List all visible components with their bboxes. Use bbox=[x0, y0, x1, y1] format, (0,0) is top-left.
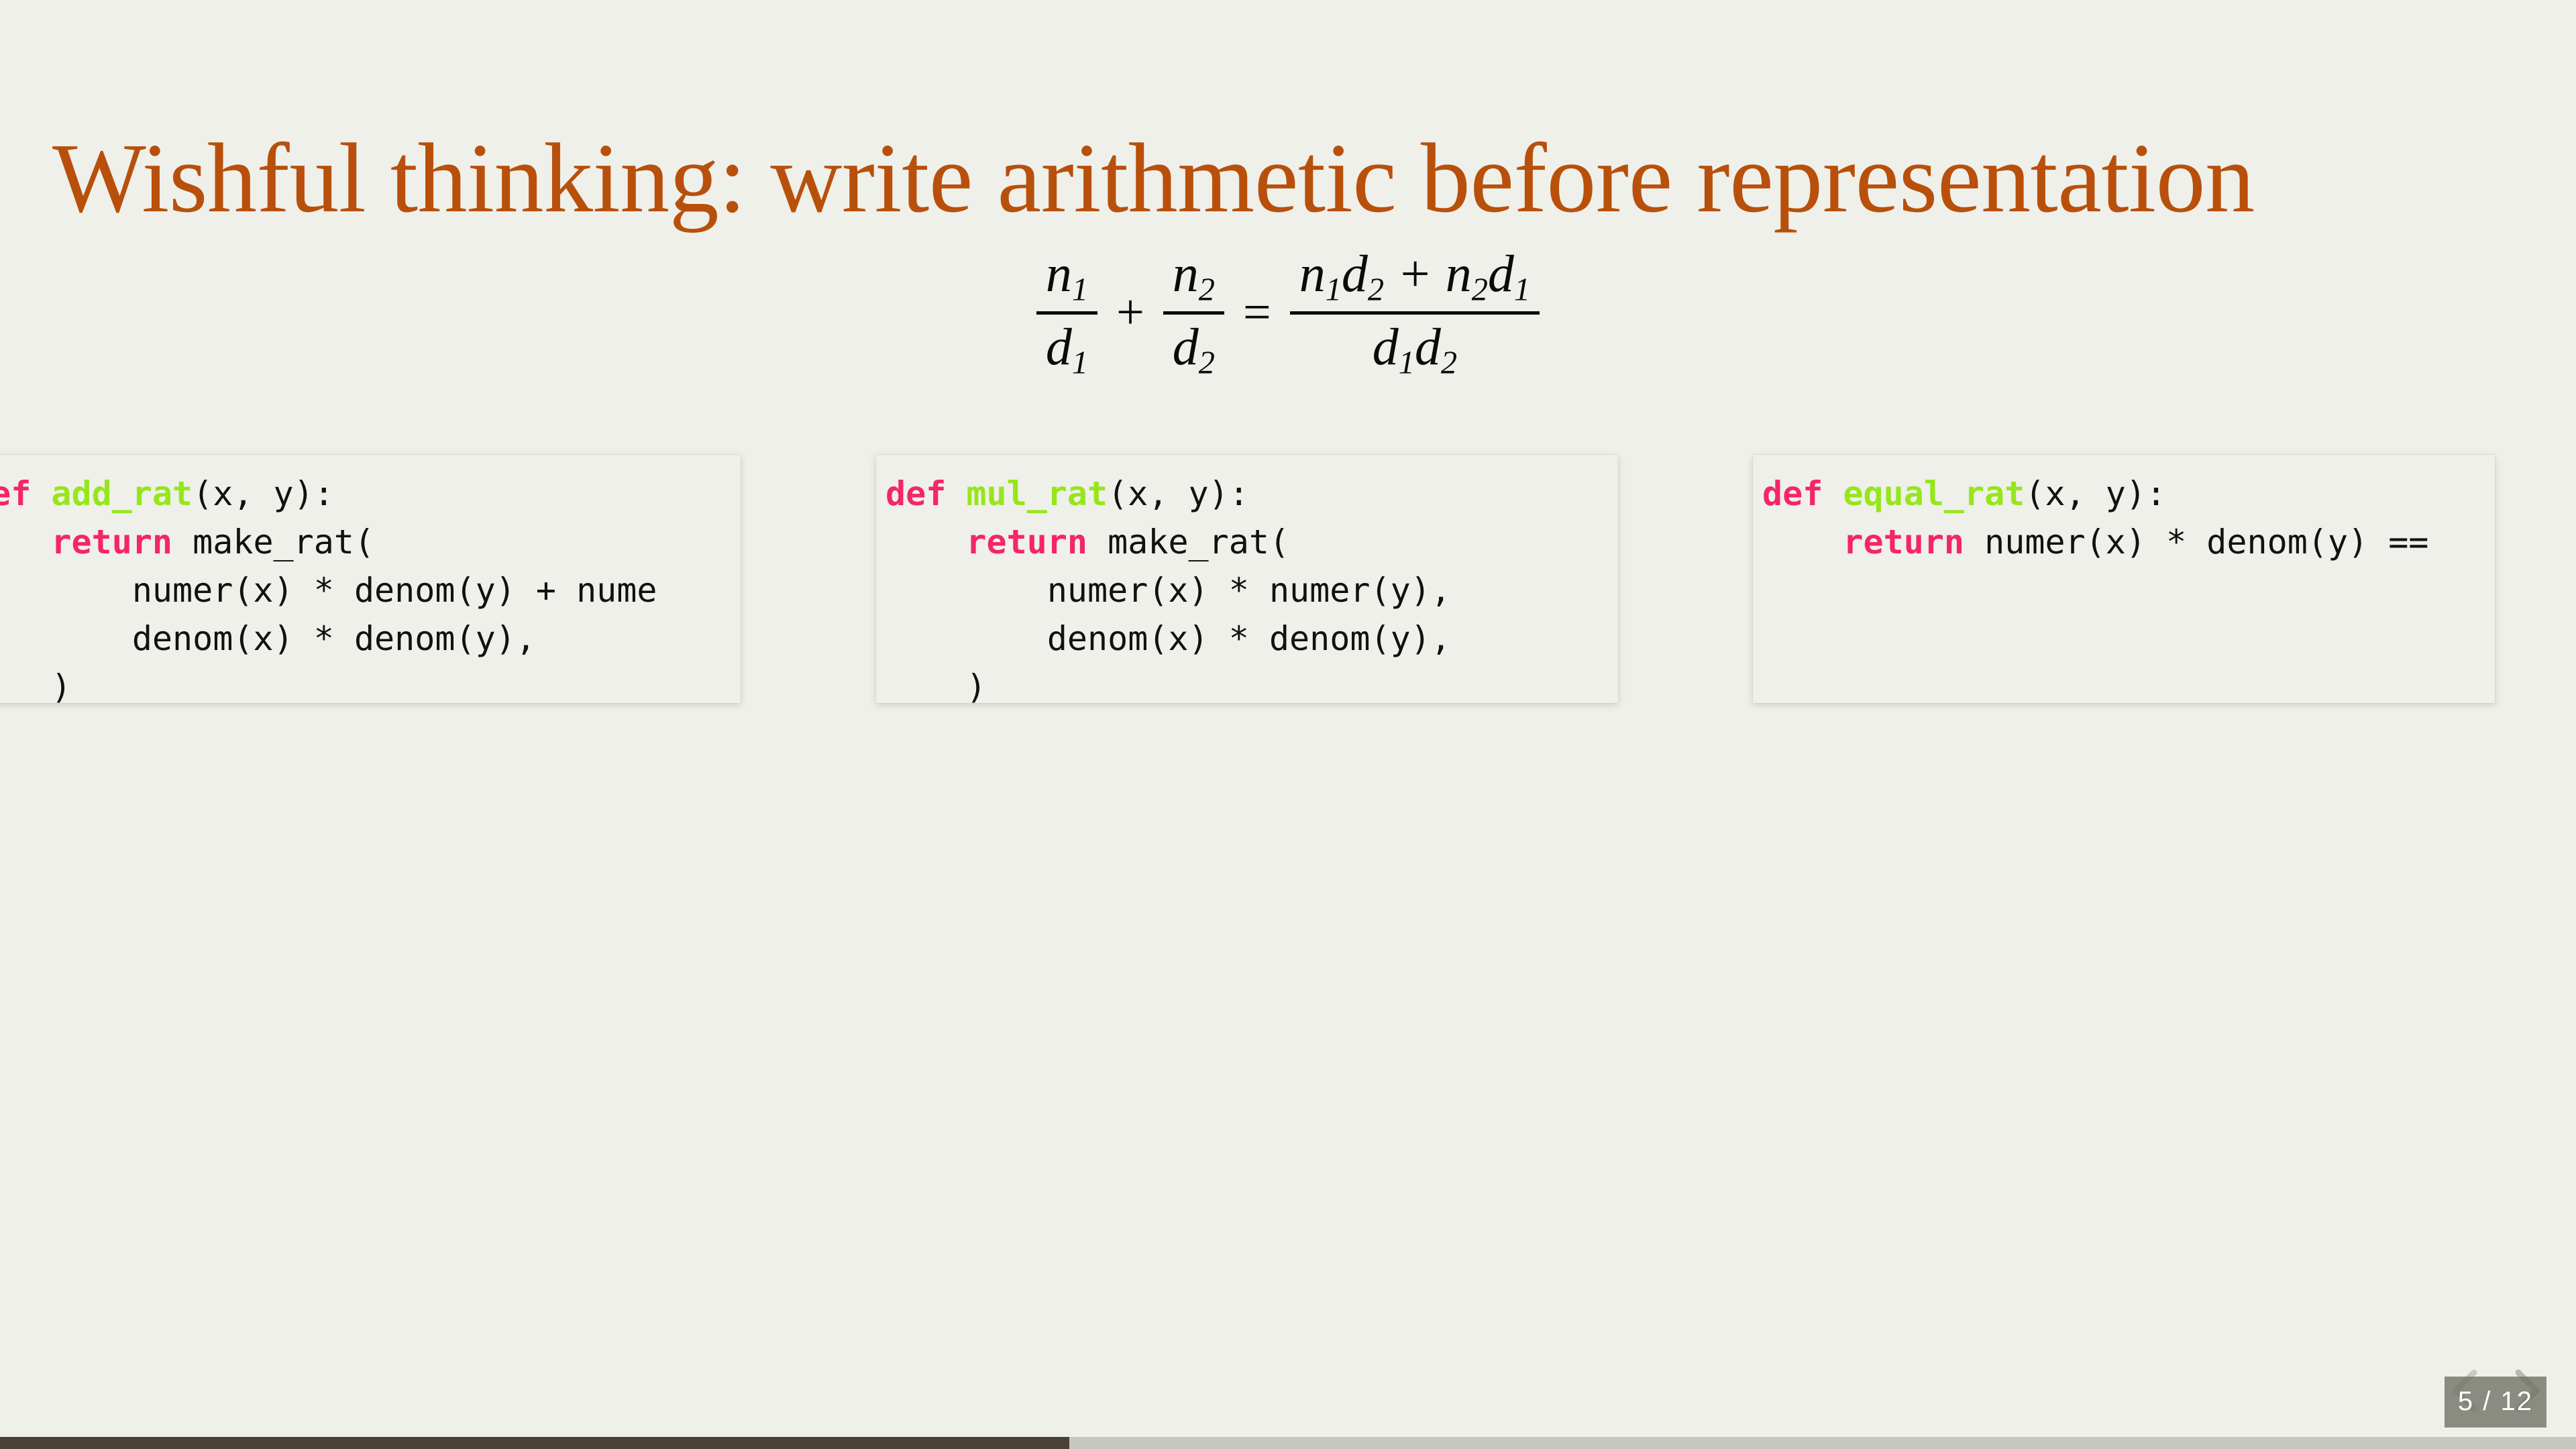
code-block-add-rat: def add_rat(x, y): return make_rat( nume… bbox=[0, 455, 741, 703]
fraction-result: n1d2 + n2d1 d1d2 bbox=[1290, 241, 1540, 384]
denominator-d2: d2 bbox=[1163, 315, 1224, 384]
slide-root: Wishful thinking: write arithmetic befor… bbox=[0, 0, 2576, 1449]
rational-addition-formula: n1 d1 + n2 d2 = n1d2 + n2d1 d1d2 bbox=[1030, 241, 1546, 384]
equals-operator: = bbox=[1243, 284, 1271, 341]
page-counter-badge[interactable]: 5 / 12 bbox=[2445, 1377, 2546, 1428]
fraction-n1-over-d1: n1 d1 bbox=[1036, 241, 1097, 384]
code-blocks-row: def add_rat(x, y): return make_rat( nume… bbox=[0, 455, 2576, 710]
page-title: Wishful thinking: write arithmetic befor… bbox=[52, 125, 2534, 233]
code-text-add-rat: def add_rat(x, y): return make_rat( nume… bbox=[0, 470, 741, 703]
code-text-mul-rat: def mul_rat(x, y): return make_rat( nume… bbox=[876, 470, 1618, 703]
code-block-mul-rat: def mul_rat(x, y): return make_rat( nume… bbox=[876, 455, 1618, 703]
numerator-n2: n2 bbox=[1163, 241, 1224, 311]
plus-operator: + bbox=[1116, 284, 1144, 341]
numerator-n1: n1 bbox=[1036, 241, 1097, 311]
fraction-n2-over-d2: n2 d2 bbox=[1163, 241, 1224, 384]
code-text-equal-rat: def equal_rat(x, y): return numer(x) * d… bbox=[1753, 470, 2495, 663]
progress-bar-track[interactable] bbox=[0, 1437, 2576, 1449]
denominator-result: d1d2 bbox=[1363, 315, 1466, 384]
numerator-result: n1d2 + n2d1 bbox=[1290, 241, 1540, 311]
formula-container: n1 d1 + n2 d2 = n1d2 + n2d1 d1d2 bbox=[0, 241, 2576, 384]
progress-bar-fill bbox=[0, 1437, 1069, 1449]
code-block-equal-rat: def equal_rat(x, y): return numer(x) * d… bbox=[1753, 455, 2495, 703]
denominator-d1: d1 bbox=[1036, 315, 1097, 384]
